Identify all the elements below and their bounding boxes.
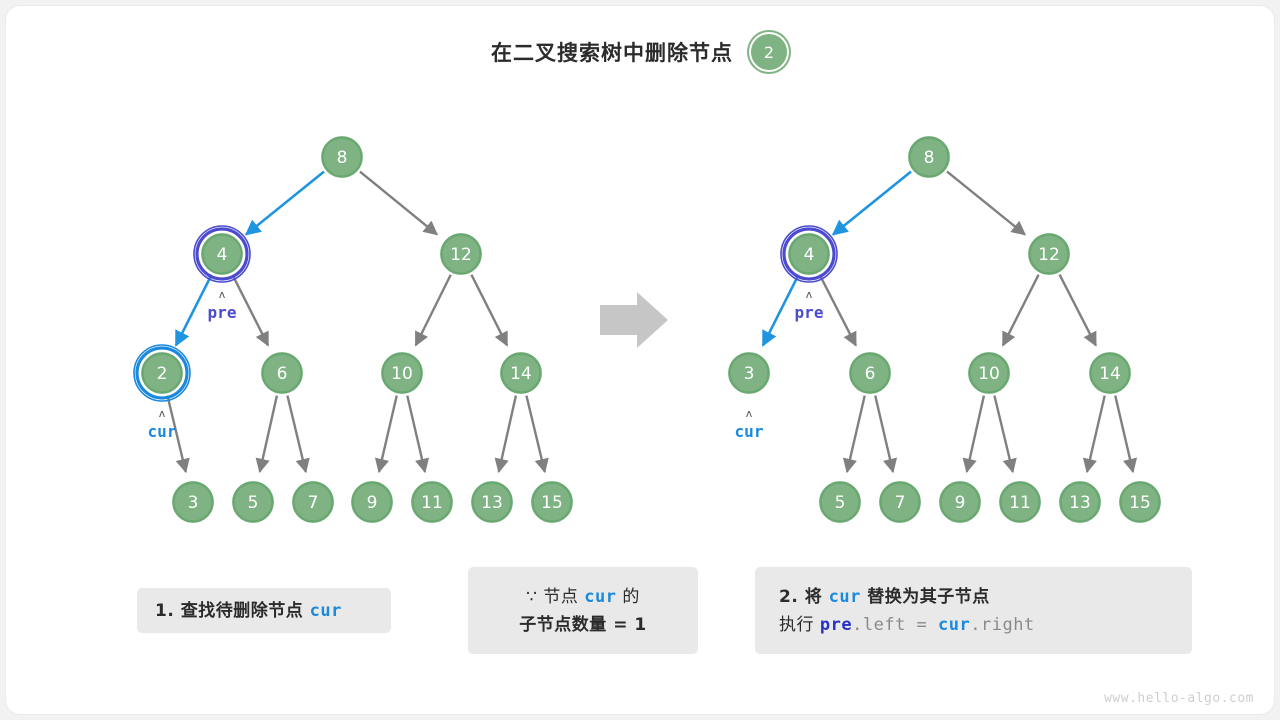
tree-node-2: 2 [134,345,190,401]
node-value: 7 [895,493,906,513]
caption-step-2-left: .left [852,615,906,635]
node-value: 10 [391,364,413,384]
caption-reason-line-1: ∵ 节点 cur 的 [526,583,640,611]
tree-edge [232,275,268,346]
tree-node-11: 11 [998,480,1042,524]
node-value: 15 [1129,493,1151,513]
pointer-caret: ʌ [806,288,813,301]
caption-step-2-right: .right [970,615,1034,635]
caption-step-2-line-2: 执行 pre.left = cur.right [779,611,1192,639]
tree-node-7: 7 [291,480,335,524]
tree-node-6: 6 [260,351,304,395]
tree-node-13: 13 [1058,480,1102,524]
node-value: 5 [835,493,846,513]
node-value: 12 [450,245,472,265]
caption-step-1-text: 1. 查找待删除节点 cur [155,597,342,625]
node-value: 2 [157,364,168,384]
tree-edge [379,395,397,471]
tree-node-6: 6 [848,351,892,395]
transition-arrow [600,292,668,348]
tree-node-5: 5 [818,480,862,524]
caption-step-1-code: cur [310,601,342,621]
tree-node-11: 11 [410,480,454,524]
tree-edge [499,395,516,471]
tree-node-15: 15 [530,480,574,524]
left-tree: 84122610143579111315ʌpreʌcur [134,135,574,524]
caption-step-1-prefix: 1. 查找待删除节点 [155,601,310,621]
node-value: 8 [337,148,348,168]
tree-node-10: 10 [380,351,424,395]
tree-edge [407,395,425,471]
node-value: 15 [541,493,563,513]
tree-edge [176,275,212,346]
tree-node-4: 4 [781,226,837,282]
tree-edge [833,171,911,234]
node-value: 3 [744,364,755,384]
node-value: 4 [217,245,228,265]
node-value: 13 [1069,493,1091,513]
tree-edge [246,171,324,234]
tree-node-5: 5 [231,480,275,524]
node-value: 8 [924,148,935,168]
tree-edge [847,395,865,471]
diagram-canvas: 在二叉搜索树中删除节点 2 84122610143579111315ʌpreʌc… [0,0,1280,720]
tree-edge [287,395,305,471]
caption-step-2-pre: pre [820,615,852,635]
pointer-caret: ʌ [219,288,226,301]
right-tree: 8412361014579111315ʌpreʌcur [727,135,1162,524]
tree-edge [967,395,984,471]
caption-step-1: 1. 查找待删除节点 cur [137,588,391,633]
tree-edge [875,395,893,471]
caption-reason-prefix: ∵ 节点 [526,587,584,607]
pointer-label-pre: pre [208,303,237,322]
caption-step-2: 2. 将 cur 替换为其子节点 执行 pre.left = cur.right [755,567,1192,654]
tree-edge [763,275,799,346]
node-value: 9 [367,493,378,513]
caption-step-2-suffix: 替换为其子节点 [861,587,990,607]
pointer-label-cur: cur [735,422,764,441]
tree-node-9: 9 [938,480,982,524]
tree-node-8: 8 [907,135,951,179]
tree-edge [1087,395,1105,471]
caption-step-2-code: cur [829,587,861,607]
node-value: 6 [277,364,288,384]
tree-edge [1115,395,1133,471]
caption-step-2-equals: = [906,615,938,635]
caption-step-2-cur: cur [938,615,970,635]
watermark: www.hello-algo.com [1104,691,1254,706]
tree-node-14: 14 [1088,351,1132,395]
node-value: 11 [421,493,443,513]
tree-node-15: 15 [1118,480,1162,524]
tree-node-9: 9 [350,480,394,524]
caption-step-2-prefix: 2. 将 [779,587,829,607]
tree-node-10: 10 [967,351,1011,395]
node-value: 9 [955,493,966,513]
node-value: 3 [188,493,199,513]
tree-node-12: 12 [1027,232,1071,276]
caption-reason-line-2: 子节点数量 = 1 [519,611,646,639]
pointer-caret: ʌ [159,407,166,420]
node-value: 6 [865,364,876,384]
tree-edge [994,395,1012,471]
tree-node-4: 4 [194,226,250,282]
node-value: 13 [481,493,503,513]
pointer-caret: ʌ [746,407,753,420]
node-value: 5 [248,493,259,513]
node-value: 14 [510,364,532,384]
tree-node-12: 12 [439,232,483,276]
tree-edge [1059,274,1095,345]
caption-reason-suffix: 的 [616,587,639,607]
tree-edge [471,275,507,346]
node-value: 11 [1009,493,1031,513]
tree-edge [416,275,451,346]
tree-node-3: 3 [727,351,771,395]
tree-node-3: 3 [171,480,215,524]
tree-edge [819,274,855,345]
tree-node-7: 7 [878,480,922,524]
tree-edge [360,172,437,235]
pointer-label-cur: cur [148,422,177,441]
node-value: 7 [308,493,319,513]
tree-edge [260,395,277,471]
node-value: 4 [804,245,815,265]
tree-node-14: 14 [499,351,543,395]
tree-edge [947,171,1025,234]
tree-node-8: 8 [320,135,364,179]
tree-edge [526,395,544,471]
caption-reason-code: cur [584,587,616,607]
pointer-label-pre: pre [795,303,824,322]
node-value: 10 [978,364,1000,384]
tree-node-13: 13 [470,480,514,524]
caption-step-2-line-1: 2. 将 cur 替换为其子节点 [779,583,1192,611]
node-value: 12 [1038,245,1060,265]
caption-reason: ∵ 节点 cur 的 子节点数量 = 1 [468,567,698,654]
node-value: 14 [1099,364,1121,384]
tree-edge [1003,275,1039,346]
caption-step-2-exec: 执行 [779,615,820,635]
